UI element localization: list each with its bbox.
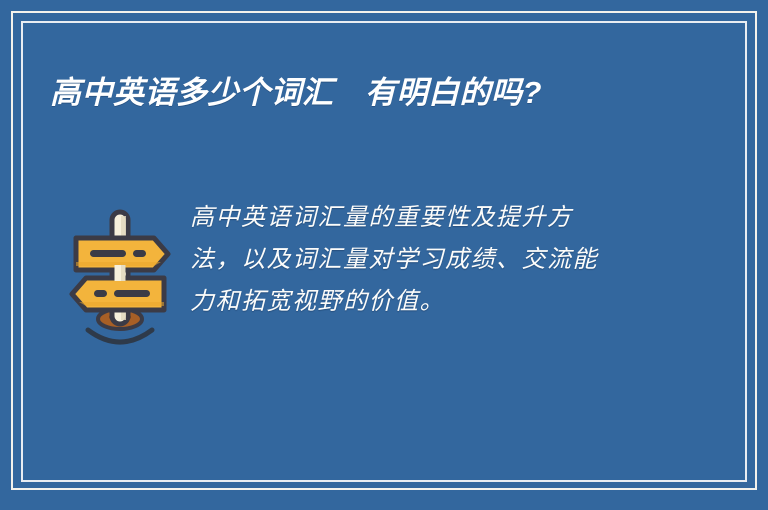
summary-paragraph: 高中英语词汇量的重要性及提升方法，以及词汇量对学习成绩、交流能力和拓宽视野的价值…	[190, 196, 620, 322]
title-block: 高中英语多少个词汇 有明白的吗?	[50, 68, 670, 118]
signpost-icon	[50, 196, 190, 352]
article-cover-card: 高中英语多少个词汇 有明白的吗?	[0, 0, 768, 510]
content-row: 高中英语词汇量的重要性及提升方法，以及词汇量对学习成绩、交流能力和拓宽视野的价值…	[50, 196, 708, 352]
page-title: 高中英语多少个词汇 有明白的吗?	[50, 68, 670, 118]
